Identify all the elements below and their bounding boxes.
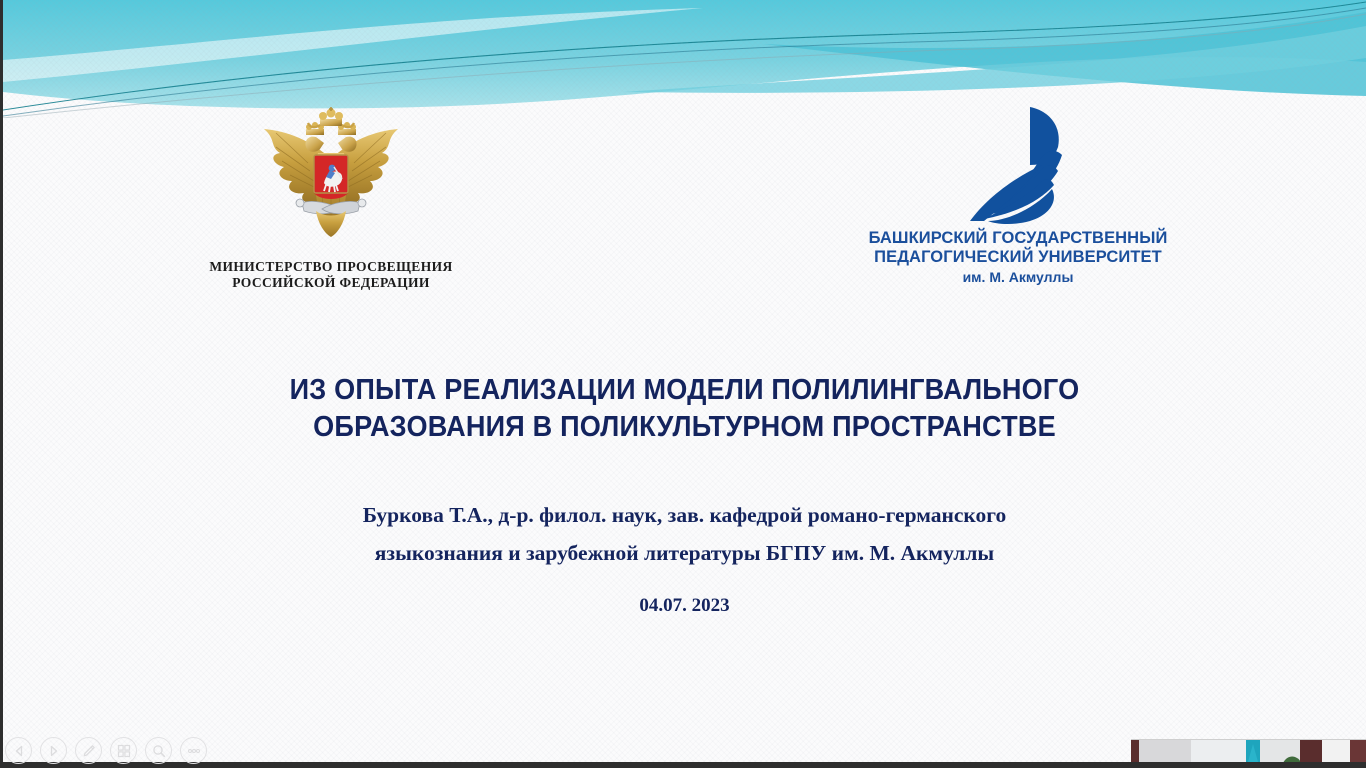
slide-canvas: МИНИСТЕРСТВО ПРОСВЕЩЕНИЯ РОССИЙСКОЙ ФЕДЕ… <box>3 0 1366 762</box>
presenter-webcam-thumbnail[interactable] <box>1131 739 1366 762</box>
presentation-window: МИНИСТЕРСТВО ПРОСВЕЩЕНИЯ РОССИЙСКОЙ ФЕДЕ… <box>0 0 1366 768</box>
grid-icon <box>117 744 131 758</box>
russian-coat-of-arms-icon <box>246 103 416 253</box>
header-wave-decoration <box>3 0 1366 118</box>
ministry-logo: МИНИСТЕРСТВО ПРОСВЕЩЕНИЯ РОССИЙСКОЙ ФЕДЕ… <box>171 103 491 292</box>
slide-author: Буркова Т.А., д-р. филол. наук, зав. каф… <box>203 496 1166 573</box>
previous-slide-button[interactable] <box>5 737 32 764</box>
magnifier-icon <box>152 744 166 758</box>
slide-grid-button[interactable] <box>110 737 137 764</box>
pen-tool-button[interactable] <box>75 737 102 764</box>
university-name: БАШКИРСКИЙ ГОСУДАРСТВЕННЫЙ ПЕДАГОГИЧЕСКИ… <box>823 229 1213 267</box>
university-subtitle: им. М. Акмуллы <box>823 269 1213 285</box>
pen-icon <box>82 744 96 758</box>
zoom-button[interactable] <box>145 737 172 764</box>
slide-title: ИЗ ОПЫТА РЕАЛИЗАЦИИ МОДЕЛИ ПОЛИЛИНГВАЛЬН… <box>180 372 1190 446</box>
presentation-toolbar <box>5 737 207 764</box>
ellipsis-icon <box>186 747 202 755</box>
slide-date: 04.07. 2023 <box>203 595 1166 617</box>
university-logo: БАШКИРСКИЙ ГОСУДАРСТВЕННЫЙ ПЕДАГОГИЧЕСКИ… <box>823 103 1213 285</box>
triangle-left-icon <box>13 745 25 757</box>
next-slide-button[interactable] <box>40 737 67 764</box>
more-options-button[interactable] <box>180 737 207 764</box>
ministry-caption: МИНИСТЕРСТВО ПРОСВЕЩЕНИЯ РОССИЙСКОЙ ФЕДЕ… <box>171 259 491 292</box>
bspu-wave-mark-icon <box>958 103 1078 225</box>
triangle-right-icon <box>48 745 60 757</box>
